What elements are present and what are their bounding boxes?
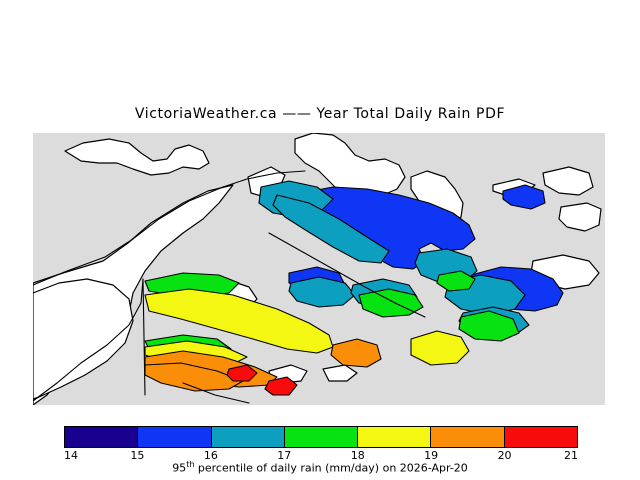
weather-map-page: VictoriaWeather.ca —— Year Total Daily R…: [0, 0, 640, 480]
colorbar-segment-19-20[interactable]: [431, 427, 504, 447]
colorbar-segment-18-19[interactable]: [358, 427, 431, 447]
colorbar-segment-16-17[interactable]: [212, 427, 285, 447]
colorbar-segment-17-18[interactable]: [285, 427, 358, 447]
caption-prefix: 95: [172, 462, 186, 475]
colorbar[interactable]: [64, 426, 578, 448]
map-svg: [33, 133, 605, 405]
page-title: VictoriaWeather.ca —— Year Total Daily R…: [0, 106, 640, 122]
colorbar-segment-20-21[interactable]: [505, 427, 577, 447]
colorbar-segment-14-15[interactable]: [65, 427, 138, 447]
colorbar-segment-15-16[interactable]: [138, 427, 211, 447]
caption-rest: percentile of daily rain (mm/day) on 202…: [194, 462, 467, 475]
map-canvas[interactable]: [33, 133, 605, 405]
colorbar-caption: 95th percentile of daily rain (mm/day) o…: [0, 460, 640, 475]
